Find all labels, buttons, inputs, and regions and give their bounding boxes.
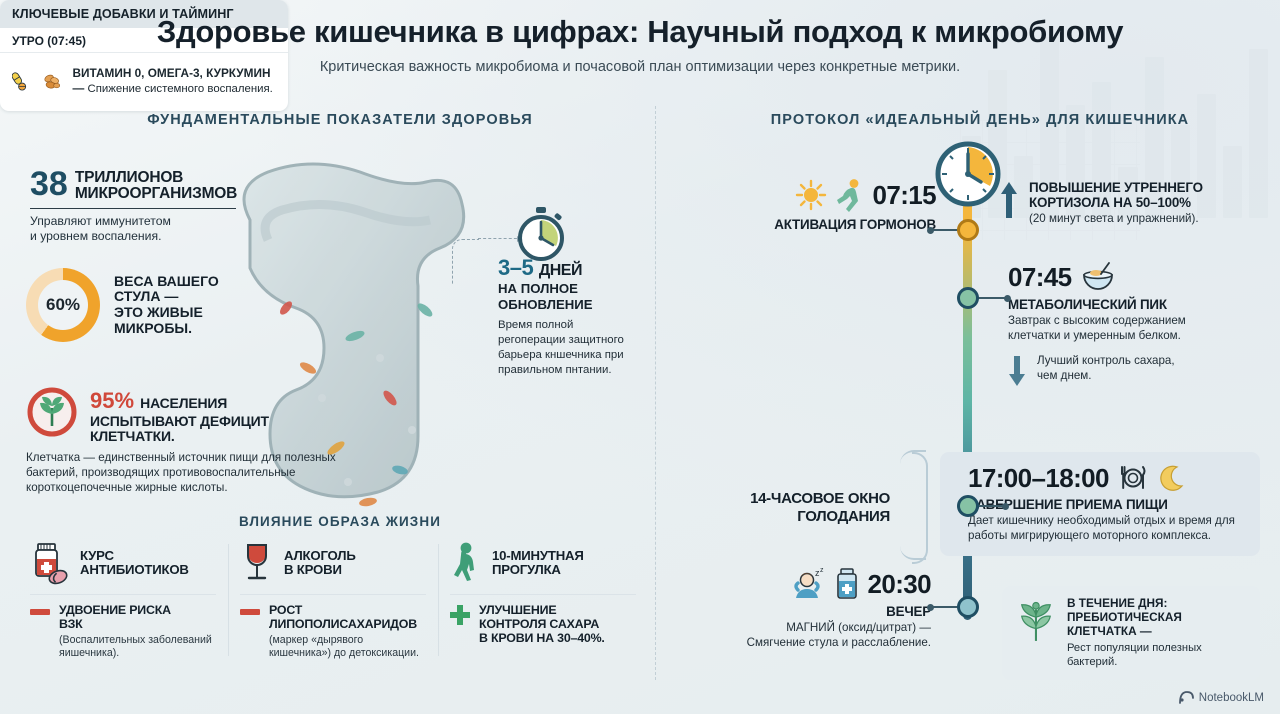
daily-prebiotic-card: В ТЕЧЕНИЕ ДНЯ: ПРЕБИОТИЧЕСКАЯ КЛЕТЧАТКА … <box>1002 586 1260 680</box>
antibiotics-title-2: АНТИБИОТИКОВ <box>80 563 189 577</box>
plate-cutlery-icon <box>1119 464 1147 492</box>
daily-line-2: ПРЕБИОТИЧЕСКАЯ <box>1067 611 1246 625</box>
donut-value: 60% <box>26 268 100 342</box>
page-subtitle: Критическая важность микробиома и почасо… <box>0 59 1280 75</box>
lifestyle-item-antibiotics: КУРС АНТИБИОТИКОВ УДВОЕНИЕ РИСКА ВЗК (Во… <box>18 540 228 660</box>
alcohol-effect-2: ЛИПОПОЛИСАХАРИДОВ <box>269 618 426 632</box>
metabolic-sub-1: Завтрак с высоким содержанием <box>1008 314 1260 329</box>
daily-sub: Рест популяции полезных бактерий. <box>1067 641 1246 669</box>
lifestyle-heading: ВЛИЯНИЕ ОБРАЗА ЖИЗНИ <box>60 514 620 529</box>
cortisol-effect-1: ПОВЫШЕНИЕ УТРЕННЕГО <box>1029 180 1203 195</box>
lifestyle-row: КУРС АНТИБИОТИКОВ УДВОЕНИЕ РИСКА ВЗК (Во… <box>18 540 648 660</box>
stat-stool-label-4: МИКРОБЫ. <box>114 321 219 337</box>
stat-microbes-number: 38 <box>30 168 68 200</box>
negative-marker-icon <box>30 609 50 615</box>
timeline-title-1700: ЗАВЕРШЕНИЕ ПРИЕМА ПИЩИ <box>968 497 1244 512</box>
watermark-label: NotebookLM <box>1199 692 1264 704</box>
magnesium-sub-1: МАГНИЙ (оксид/цитрат) — <box>676 621 931 636</box>
timeline-node-0745[interactable] <box>957 287 979 309</box>
sugar-effect-1: Лучший контроль сахара, <box>1037 354 1175 369</box>
clock-icon <box>932 138 1004 215</box>
magnesium-sub-2: Смягчение стула и расслабление. <box>676 636 931 651</box>
stat-stool-label-2: СТУЛА — <box>114 289 219 305</box>
walking-effect-3: В КРОВИ НА 30–40%. <box>479 632 605 646</box>
page-header: Здоровье кишечника в цифрах: Научный под… <box>0 14 1280 75</box>
stretching-person-icon <box>835 178 865 212</box>
alcohol-effect-1: РОСТ <box>269 604 426 618</box>
supplements-body-rest: Спижение системного воспаления. <box>84 83 273 95</box>
timeline-connector-2030 <box>930 606 960 608</box>
timeline-connector-0745 <box>978 297 1008 299</box>
fasting-window-label: 14-ЧАСОВОЕ ОКНО ГОЛОДАНИЯ <box>690 490 890 525</box>
timeline-event-0745: 07:45 МЕТАБОЛИЧЕСКИЙ ПИК Завтрак с высок… <box>1008 262 1260 388</box>
stat-fiber-label-tail: НАСЕЛЕНИЯ <box>140 395 227 411</box>
metabolic-sub-2: клетчатки и умеренным белком. <box>1008 329 1260 344</box>
supplement-bottle-icon <box>834 568 860 600</box>
stat-fiber-label-3: КЛЕТЧАТКИ. <box>90 429 269 444</box>
lifestyle-item-walking: 10-МИНУТНАЯ ПРОГУЛКА УЛУЧШЕНИЕ КОНТРОЛЯ … <box>438 540 648 660</box>
stat-microbes-sub-2: и уровнем воспаления. <box>30 229 260 244</box>
bowl-icon <box>1081 262 1115 292</box>
renewal-days: 3–5 <box>498 255 533 280</box>
timeline-event-0715: 07:15 АКТИВАЦИЯ ГОРМОНОВ <box>736 178 936 232</box>
notebooklm-logo-icon <box>1179 691 1194 704</box>
left-column-heading: ФУНДАМЕНТАЛЬНЫЕ ПОКАЗАТЕЛИ ЗДОРОВЬЯ <box>60 112 620 128</box>
stat-stool-label-1: ВЕСА ВАШЕГО <box>114 274 219 290</box>
up-arrow-icon <box>1000 180 1018 220</box>
timeline-node-2030[interactable] <box>957 596 979 618</box>
stat-stool-label-3: ЭТО ЖИВЫЕ <box>114 305 219 321</box>
alcohol-title-2: В КРОВИ <box>284 563 356 577</box>
stat-microbes-label-2: МИКРООРГАНИЗМОВ <box>75 186 237 202</box>
fasting-line-2: ГОЛОДАНИЯ <box>690 508 890 526</box>
stat-fiber-label-2: ИСПЫТЫВАЮТ ДЕФИЦИТ <box>90 414 269 429</box>
timeline-node-0715[interactable] <box>957 219 979 241</box>
moon-icon <box>1157 464 1185 492</box>
fasting-brace <box>900 450 926 560</box>
walking-title-2: ПРОГУЛКА <box>492 563 584 577</box>
stat-microbes-label-1: ТРИЛЛИОНОВ <box>75 170 237 186</box>
stat-fiber-sub: Клетчатка — единственный источник пищи д… <box>26 451 356 495</box>
lifestyle-item-alcohol: АЛКОГОЛЬ В КРОВИ РОСТ ЛИПОПОЛИСАХАРИДОВ … <box>228 540 438 660</box>
walking-effect-1: УЛУЧШЕНИЕ <box>479 604 605 618</box>
page-title: Здоровье кишечника в цифрах: Научный под… <box>0 14 1280 50</box>
infographic-page: Здоровье кишечника в цифрах: Научный под… <box>0 0 1280 714</box>
fiber-deficit-icon <box>26 386 78 438</box>
positive-marker-icon <box>450 605 470 625</box>
stat-stool: 60% ВЕСА ВАШЕГО СТУЛА — ЭТО ЖИВЫЕ МИКРОБ… <box>26 268 219 342</box>
renewal-line-2: НА ПОЛНОЕ <box>498 282 638 297</box>
stat-fiber-percent: 95% <box>90 388 134 413</box>
timeline-event-2030: z z 20:30 ВЕЧЕР МАГНИЙ (оксид/цитрат) — … <box>676 568 931 650</box>
walking-effect-2: КОНТРОЛЯ САХАРА <box>479 618 605 632</box>
antibiotics-effect-1: УДВОЕНИЕ РИСКА <box>59 604 216 618</box>
cortisol-effect-sub: (20 минут света и упражнений). <box>1029 212 1203 227</box>
negative-marker-icon <box>240 609 260 615</box>
timeline-time-2030: 20:30 <box>868 571 932 597</box>
fasting-line-1: 14-ЧАСОВОЕ ОКНО <box>690 490 890 508</box>
wine-glass-icon <box>240 541 274 585</box>
sun-icon <box>795 179 827 211</box>
timeline-time-0745: 07:45 <box>1008 264 1072 290</box>
leaf-branch-icon <box>1016 597 1056 643</box>
timeline-node-1700[interactable] <box>957 495 979 517</box>
timeline-sub-1700: Дает кишечнику необходимый отдых и время… <box>968 514 1244 543</box>
antibiotics-title-1: КУРС <box>80 549 189 563</box>
alcohol-effect-sub: (маркер «дырявого кишечника») до детокси… <box>269 634 426 660</box>
stat-fiber: 95% НАСЕЛЕНИЯ ИСПЫТЫВАЮТ ДЕФИЦИТ КЛЕТЧАТ… <box>26 386 356 496</box>
svg-text:z: z <box>820 568 824 574</box>
antibiotics-effect-sub: (Воспалительных заболеваний яишечника). <box>59 634 216 660</box>
renewal-days-unit: ДНЕЙ <box>539 262 582 279</box>
walking-title-1: 10-МИНУТНАЯ <box>492 549 584 563</box>
renewal-line-3: ОБНОВЛЕНИЕ <box>498 298 638 313</box>
cortisol-effect-2: КОРТИЗОЛА НА 50–100% <box>1029 195 1203 210</box>
column-divider <box>655 106 656 680</box>
alcohol-title-1: АЛКОГОЛЬ <box>284 549 356 563</box>
donut-chart-60: 60% <box>26 268 100 342</box>
stat-microbes: 38 ТРИЛЛИОНОВ МИКРООРГАНИЗМОВ Управляют … <box>30 168 260 244</box>
timeline-title-0715: АКТИВАЦИЯ ГОРМОНОВ <box>736 217 936 232</box>
sugar-effect-2: чем днем. <box>1037 369 1175 384</box>
walking-person-icon <box>450 541 482 585</box>
callout-renewal: 3–5 ДНЕЙ НА ПОЛНОЕ ОБНОВЛЕНИЕ Время полн… <box>498 255 638 377</box>
daily-line-3: КЛЕТЧАТКА — <box>1067 625 1246 639</box>
stat-microbes-sub-1: Управляют иммунитетом <box>30 214 260 229</box>
timeline-connector-0715 <box>930 229 960 231</box>
timeline-title-2030: ВЕЧЕР <box>676 604 931 619</box>
daily-line-1: В ТЕЧЕНИЕ ДНЯ: <box>1067 597 1246 611</box>
timeline-time-1700: 17:00–18:00 <box>968 465 1109 491</box>
antibiotics-effect-2: ВЗК <box>59 618 216 632</box>
timeline-title-0745: МЕТАБОЛИЧЕСКИЙ ПИК <box>1008 297 1260 312</box>
right-column-heading: ПРОТОКОЛ «ИДЕАЛЬНЫЙ ДЕНЬ» ДЛЯ КИШЕЧНИКА <box>690 112 1270 128</box>
timeline-time-0715: 07:15 <box>873 182 937 208</box>
down-arrow-icon <box>1008 354 1026 388</box>
stat-microbes-rule <box>30 208 236 209</box>
timeline-effect-0715: ПОВЫШЕНИЕ УТРЕННЕГО КОРТИЗОЛА НА 50–100%… <box>1000 180 1252 227</box>
sleeping-person-icon: z z <box>792 568 826 600</box>
watermark: NotebookLM <box>1179 691 1264 704</box>
renewal-sub: Время полной регоперации защитного барье… <box>498 318 638 377</box>
pill-bottle-icon <box>30 541 70 585</box>
timeline-connector-1700 <box>978 505 1006 507</box>
